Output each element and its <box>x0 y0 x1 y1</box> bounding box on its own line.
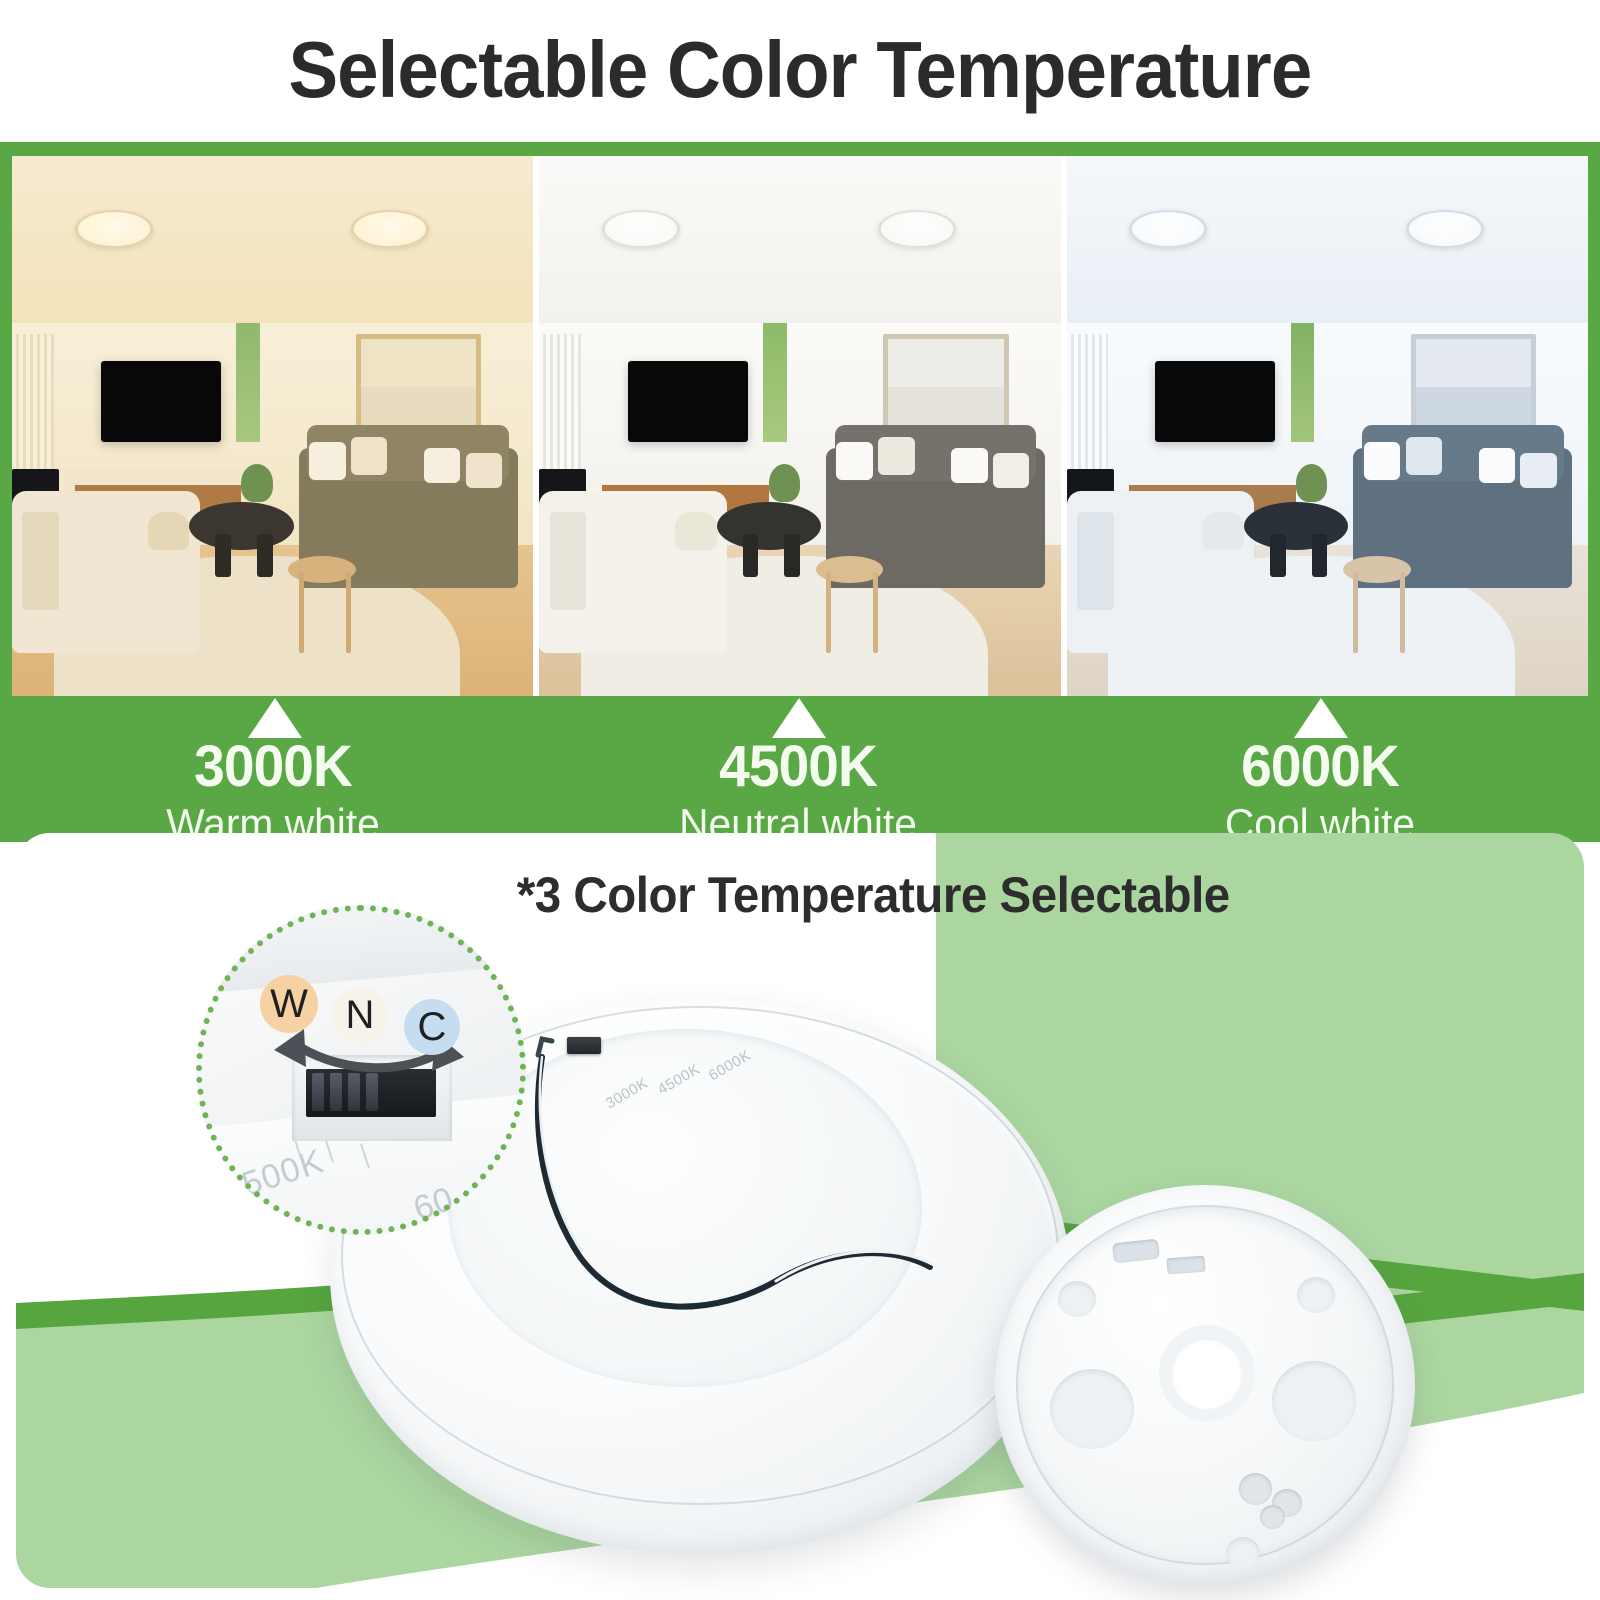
knockout-pad <box>1050 1369 1134 1449</box>
kelvin-value-6000k: 6000K <box>1075 738 1565 796</box>
coffee-table <box>189 502 293 551</box>
television <box>628 361 748 442</box>
dip-switch-magnifier: 4500K 60 W N C <box>196 905 526 1235</box>
page-title: Selectable Color Temperature <box>289 24 1312 116</box>
wall-artwork <box>1411 334 1536 437</box>
ceiling-light-fixture <box>1129 210 1207 248</box>
pointer-triangle-3000k <box>248 698 302 738</box>
room-photo-4500k <box>539 156 1060 696</box>
television <box>101 361 221 442</box>
magnifier-dotted-ring <box>196 905 526 1235</box>
ceiling-light-fixture <box>75 210 153 248</box>
ceiling-light-fixture <box>351 210 429 248</box>
room-photo-6000k <box>1067 156 1588 696</box>
screw-boss <box>1297 1277 1335 1313</box>
feature-subtitle: *3 Color Temperature Selectable <box>517 866 1230 924</box>
television <box>1155 361 1275 442</box>
wall-artwork <box>356 334 481 437</box>
cable-hole <box>1260 1505 1285 1529</box>
screw-boss <box>1058 1281 1096 1317</box>
kelvin-value-4500k: 4500K <box>553 738 1043 796</box>
coffee-table <box>1244 502 1348 551</box>
keyhole-slot <box>1167 1256 1206 1275</box>
caption-3000k: 3000K Warm white <box>15 738 531 848</box>
screw-boss <box>1226 1537 1260 1569</box>
caption-4500k: 4500K Neutral white <box>540 738 1056 848</box>
room-photo-strip <box>12 156 1588 696</box>
pointer-triangle-4500k <box>772 698 826 738</box>
ceiling-light-fixture <box>878 210 956 248</box>
kelvin-value-3000k: 3000K <box>28 738 518 796</box>
center-mounting-hole <box>1171 1337 1242 1409</box>
knockout-pad <box>1272 1361 1356 1441</box>
wall-artwork <box>883 334 1008 437</box>
header: Selectable Color Temperature <box>0 0 1600 140</box>
ceiling-light-fixture <box>1406 210 1484 248</box>
mounting-bracket-plate <box>995 1185 1415 1585</box>
caption-6000k: 6000K Cool white <box>1062 738 1578 848</box>
cable-hole <box>1239 1473 1273 1505</box>
room-photo-3000k <box>12 156 533 696</box>
pointer-triangle-6000k <box>1294 698 1348 738</box>
coffee-table <box>717 502 821 551</box>
ceiling-light-fixture <box>602 210 680 248</box>
color-temperature-comparison-panel: 3000K Warm white 4500K Neutral white 600… <box>0 142 1600 842</box>
